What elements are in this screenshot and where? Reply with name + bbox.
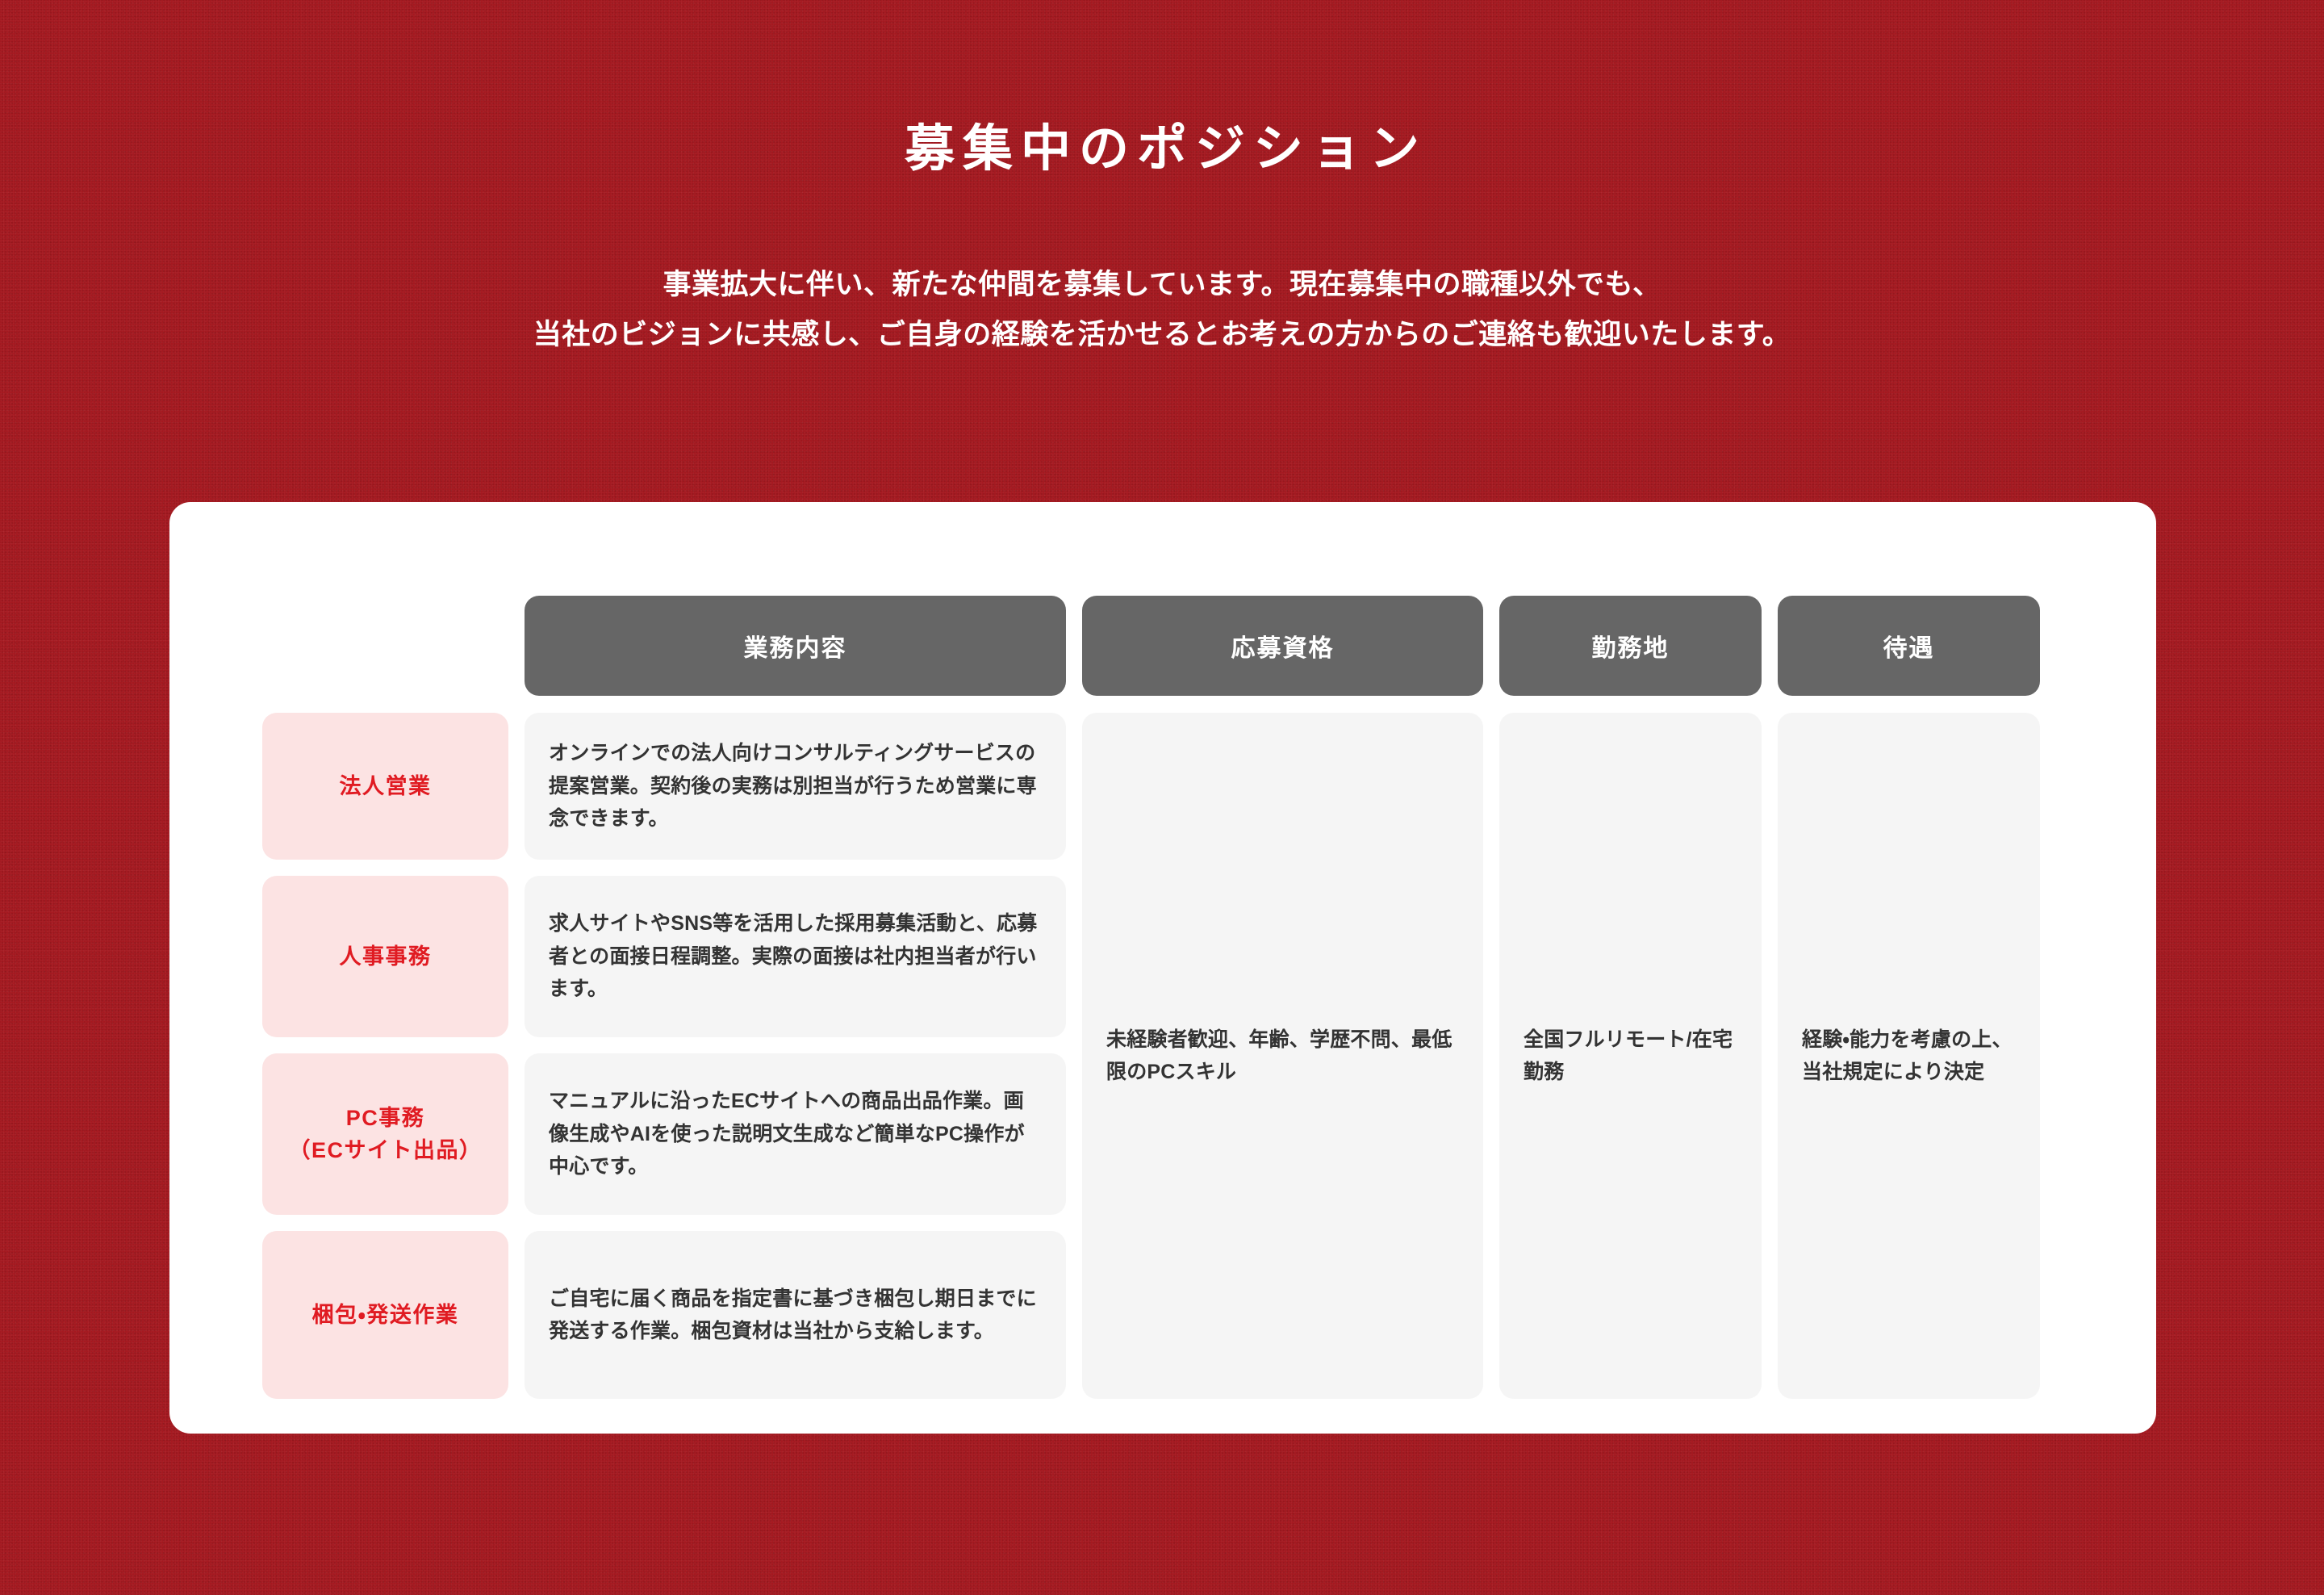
merged-cell-qualification: 未経験者歓迎、年齢、学歴不問、最低限のPCスキル (1082, 713, 1483, 1399)
hero-subtitle: 事業拡大に伴い、新たな仲間を募集しています。現在募集中の職種以外でも、 当社のビ… (0, 260, 2324, 359)
duty-text-packing-shipping: ご自宅に届く商品を指定書に基づき梱包し期日までに発送する作業。梱包資材は当社から… (525, 1231, 1066, 1399)
hero-section: 募集中のポジション 事業拡大に伴い、新たな仲間を募集しています。現在募集中の職種… (0, 0, 2324, 359)
duty-text-corporate-sales: オンラインでの法人向けコンサルティングサービスの提案営業。契約後の実務は別担当が… (525, 713, 1066, 860)
positions-table: 業務内容 応募資格 勤務地 待遇 法人営業 オンラインでの法人向けコンサルティン… (262, 596, 2064, 1399)
page-title: 募集中のポジション (0, 119, 2324, 179)
table-header-row: 業務内容 応募資格 勤務地 待遇 (262, 596, 2064, 696)
positions-card: 業務内容 応募資格 勤務地 待遇 法人営業 オンラインでの法人向けコンサルティン… (169, 502, 2156, 1434)
table-header-qualification: 応募資格 (1082, 596, 1483, 696)
recruit-positions-page: 募集中のポジション 事業拡大に伴い、新たな仲間を募集しています。現在募集中の職種… (0, 0, 2324, 1595)
job-label-packing-shipping: 梱包・発送作業 (262, 1231, 508, 1399)
table-body: 法人営業 オンラインでの法人向けコンサルティングサービスの提案営業。契約後の実務… (262, 713, 2064, 1399)
table-header-treatment: 待遇 (1778, 596, 2040, 696)
hero-subtitle-line-1: 事業拡大に伴い、新たな仲間を募集しています。現在募集中の職種以外でも、 (0, 260, 2324, 309)
duty-text-hr-admin: 求人サイトやSNS等を活用した採用募集活動と、応募者との面接日程調整。実際の面接… (525, 876, 1066, 1037)
merged-cell-treatment: 経験・能力を考慮の上、当社規定により決定 (1778, 713, 2040, 1399)
merged-cell-location: 全国フルリモート/在宅勤務 (1499, 713, 1762, 1399)
table-header-duty: 業務内容 (525, 596, 1066, 696)
duty-text-pc-admin: マニュアルに沿ったECサイトへの商品出品作業。画像生成やAIを使った説明文生成な… (525, 1053, 1066, 1215)
table-header-job-spacer (262, 596, 508, 696)
hero-subtitle-line-2: 当社のビジョンに共感し、ご自身の経験を活かせるとお考えの方からのご連絡も歓迎いた… (0, 310, 2324, 359)
job-label-corporate-sales: 法人営業 (262, 713, 508, 860)
table-header-location: 勤務地 (1499, 596, 1762, 696)
job-label-hr-admin: 人事事務 (262, 876, 508, 1037)
job-label-pc-admin: PC事務 （ECサイト出品） (262, 1053, 508, 1215)
